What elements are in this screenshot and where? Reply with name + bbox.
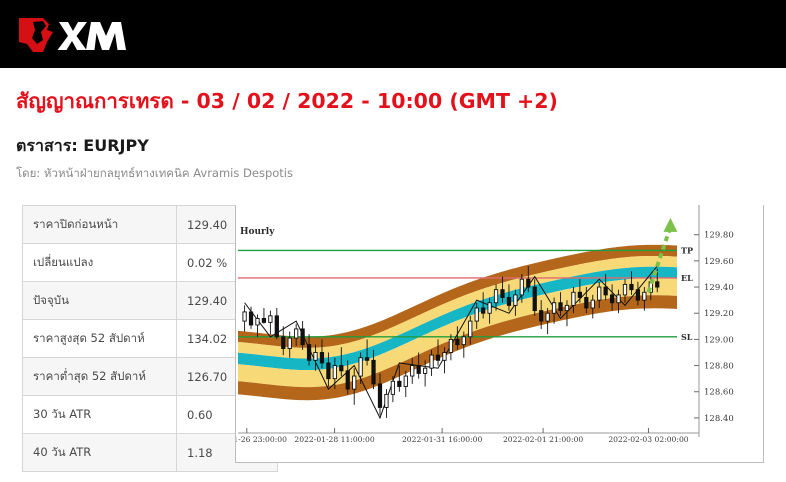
avramis-river-cloud [238,245,677,400]
svg-text:2022-02-01 21:00:00: 2022-02-01 21:00:00 [503,435,583,444]
stat-label: เปลี่ยนแปลง [23,244,177,282]
stat-label: ราคาต่ำสุด 52 สัปดาห์ [23,358,177,396]
svg-text:2022-01-31 16:00:00: 2022-01-31 16:00:00 [402,435,482,444]
svg-text:129.80: 129.80 [704,231,734,241]
svg-text:129.20: 129.20 [704,309,734,319]
svg-text:2022-01-26 23:00:00: 2022-01-26 23:00:00 [236,435,287,444]
stat-label: ปัจจุบัน [23,282,177,320]
price-axis: 128.40128.60128.80129.00129.20129.40129.… [694,205,734,437]
svg-text:129.60: 129.60 [704,257,734,267]
timeframe-label: Hourly [240,227,274,237]
svg-text:2022-02-03 02:00:00: 2022-02-03 02:00:00 [608,435,688,444]
svg-text:128.60: 128.60 [704,388,734,398]
candlestick-chart: TPELSL 128.40128.60128.80129.00129.20129… [236,205,763,461]
svg-text:SL: SL [681,332,693,342]
time-axis: 2022-01-26 23:00:002022-01-28 11:00:0020… [236,428,699,444]
svg-text:128.40: 128.40 [704,414,734,424]
svg-text:129.00: 129.00 [704,335,734,345]
price-chart-panel[interactable]: Hourly TPELSL 128.40128.60128.80129.0012… [235,205,764,463]
svg-text:TP: TP [681,245,693,255]
page-title: สัญญาณการเทรด - 03 / 02 / 2022 - 10:00 (… [16,88,558,114]
svg-text:2022-01-28 11:00:00: 2022-01-28 11:00:00 [294,435,374,444]
stat-label: ราคาปิดก่อนหน้า [23,206,177,244]
stat-label: 30 วัน ATR [23,396,177,434]
site-header [0,0,786,68]
instrument-label: ตราสาร: EURJPY [16,135,149,157]
svg-text:129.40: 129.40 [704,283,734,293]
svg-text:EL: EL [681,273,693,283]
stat-label: 40 วัน ATR [23,434,177,472]
xm-bull-logo-icon[interactable] [13,12,133,56]
byline: โดย: หัวหน้าฝ่ายกลยุทธ์ทางเทคนิค Avramis… [16,165,293,181]
svg-text:128.80: 128.80 [704,362,734,372]
stat-label: ราคาสูงสุด 52 สัปดาห์ [23,320,177,358]
